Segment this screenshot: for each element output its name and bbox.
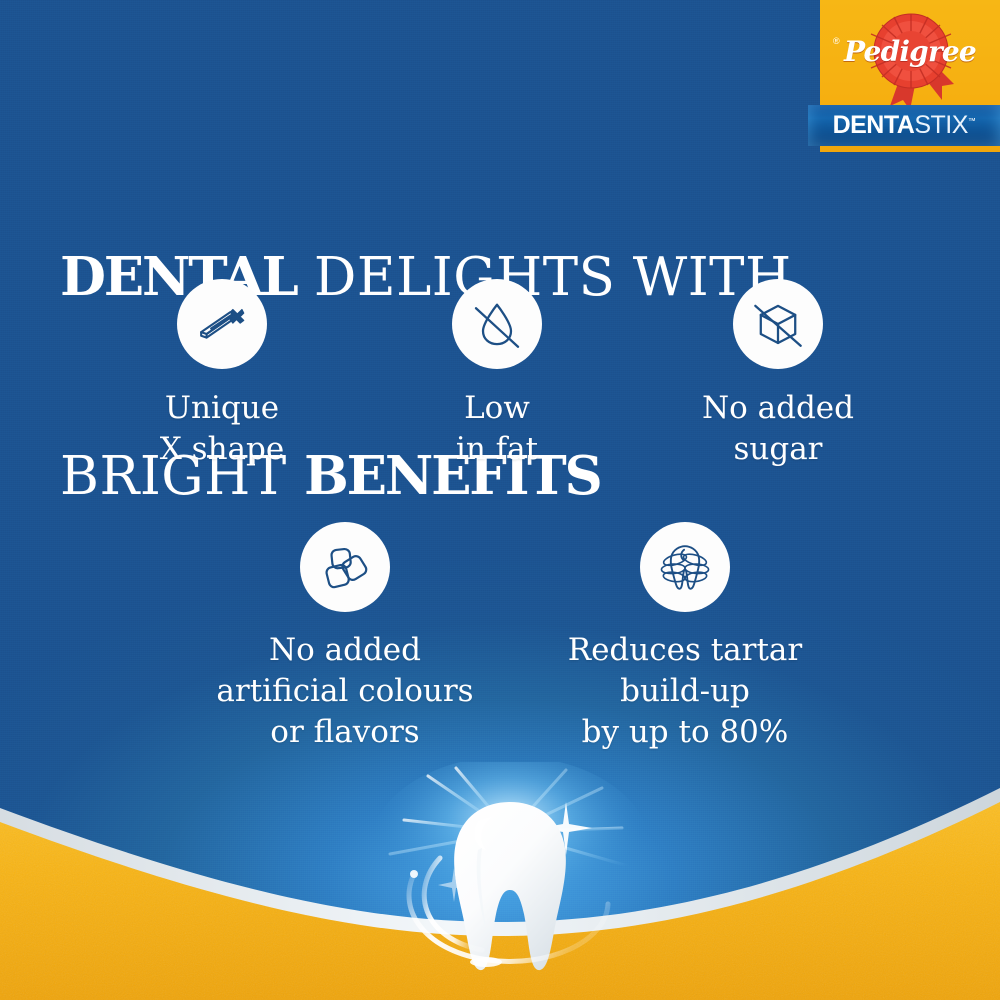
dentastix-part2: STIX — [914, 111, 968, 139]
benefit-bubble-4 — [300, 522, 390, 612]
hero-tooth-graphic — [370, 762, 650, 1000]
dental-stick-x-shape-icon — [193, 295, 251, 353]
pedigree-dentastix-poster: ® Pedigree DENTASTIX™ DENTAL DELIGHTS WI… — [0, 0, 1000, 1000]
benefit-bubble-2 — [452, 279, 542, 369]
benefit-bubble-1 — [177, 279, 267, 369]
headline-line-1: DENTAL DELIGHTS WITH — [60, 178, 800, 311]
colour-pieces-icon — [317, 539, 373, 595]
page-title: DENTAL DELIGHTS WITH BRIGHT BENEFITS — [60, 112, 800, 576]
benefit-label-3: No added sugar — [648, 388, 908, 470]
tooth-shape — [454, 802, 566, 970]
pedigree-registered-mark: ® — [833, 36, 840, 46]
swirl-ribbon-icon — [409, 858, 608, 961]
sparkle-burst-icon — [370, 762, 650, 1000]
benefit-bubble-5 — [640, 522, 730, 612]
dentastix-part1: DENTA — [833, 111, 915, 139]
headline-word-dental: DENTAL — [60, 246, 297, 308]
benefit-label-4: No added artificial colours or flavors — [215, 630, 475, 753]
sparkle-star — [438, 802, 592, 902]
tooth-with-rings-icon — [656, 538, 714, 596]
dentastix-wordmark: DENTASTIX™ — [833, 111, 976, 140]
dentastix-trademark-mark: ™ — [968, 117, 976, 126]
headline-rest-1: DELIGHTS WITH — [297, 247, 792, 308]
dentastix-banner[interactable]: DENTASTIX™ — [808, 105, 1000, 146]
pedigree-wordmark: Pedigree — [820, 35, 1000, 68]
benefit-label-5: Reduces tartar build-up by up to 80% — [555, 630, 815, 753]
benefit-bubble-3 — [733, 279, 823, 369]
benefit-label-1: Unique X shape — [92, 388, 352, 470]
water-drop-crossed-out-icon — [469, 296, 525, 352]
sugar-cube-crossed-out-icon — [749, 295, 807, 353]
benefit-label-2: Low in fat — [367, 388, 627, 470]
